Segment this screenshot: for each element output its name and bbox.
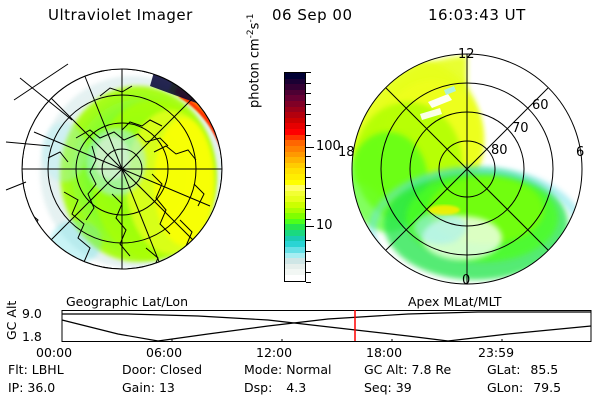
colorbar-ticks	[306, 72, 314, 282]
colorbar-minor-tick	[306, 93, 311, 94]
status-flt-label: Flt:	[8, 362, 28, 377]
apex-panel-title: Apex MLat/MLT	[408, 294, 502, 309]
timeseries-xtick-4: 23:59	[478, 345, 514, 360]
status-glon-value: 79.5	[533, 380, 561, 395]
colorbar-minor-tick	[306, 240, 311, 241]
status-flt: Flt: LBHL	[8, 362, 64, 377]
colorbar-unit-exp2: -1	[246, 14, 256, 23]
status-dsp-value: 4.3	[286, 380, 306, 395]
header-bar: Ultraviolet Imager 06 Sep 00 16:03:43 UT	[0, 6, 600, 32]
polar-svg	[336, 42, 598, 297]
status-ip-label: IP:	[8, 380, 23, 395]
colorbar-major-tick	[306, 147, 314, 148]
status-glat: GLat: 85.5	[487, 362, 558, 377]
globe-svg	[4, 42, 254, 297]
colorbar-minor-tick	[306, 72, 311, 73]
colorbar-minor-tick	[306, 261, 311, 262]
status-dsp: Dsp: 4.3	[244, 380, 306, 395]
colorbar	[284, 72, 306, 282]
status-door-label: Door:	[122, 362, 156, 377]
colorbar-major-tick	[306, 226, 314, 227]
colorbar-minor-tick	[306, 125, 311, 126]
colorbar-unit-main: photon cm	[247, 38, 262, 108]
mlt-label-6: 6	[576, 146, 584, 159]
status-gcalt: GC Alt: 7.8 Re	[364, 362, 451, 377]
timeseries-xtick-0: 00:00	[36, 345, 72, 360]
geographic-panel-title: Geographic Lat/Lon	[66, 294, 188, 309]
colorbar-minor-tick	[306, 272, 311, 273]
colorbar-minor-tick	[306, 156, 311, 157]
timeseries-frame	[62, 311, 591, 342]
status-ip-value: 36.0	[27, 380, 55, 395]
instrument-title: Ultraviolet Imager	[48, 6, 193, 24]
status-gcalt-label: GC Alt:	[364, 362, 408, 377]
status-flt-value: LBHL	[32, 362, 64, 377]
status-door: Door: Closed	[122, 362, 202, 377]
timeseries-svg	[8, 310, 592, 342]
geographic-globe-image	[4, 42, 254, 297]
globe-emission-layer	[22, 69, 234, 296]
timeseries-xtick-2: 12:00	[256, 345, 292, 360]
mlat-label-70: 70	[512, 122, 529, 135]
groundtrack-timeseries	[8, 310, 592, 342]
status-gain-value: 13	[159, 380, 175, 395]
mlat-label-60: 60	[532, 99, 549, 112]
timeseries-ytick-top: 9.0	[22, 306, 42, 321]
colorbar-minor-tick	[306, 83, 311, 84]
colorbar-minor-tick	[306, 219, 311, 220]
timeseries-xtick-1: 06:00	[146, 345, 182, 360]
colorbar-minor-tick	[306, 251, 311, 252]
status-seq-value: 39	[396, 380, 412, 395]
status-glon: GLon: 79.5	[487, 380, 561, 395]
colorbar-gradient	[284, 72, 306, 282]
apex-track-curve	[62, 314, 591, 341]
colorbar-minor-tick	[306, 198, 311, 199]
colorbar-minor-tick	[306, 209, 311, 210]
colorbar-tick-label-100: 100	[316, 140, 341, 153]
colorbar-unit-exp1: -2	[246, 29, 256, 38]
status-mode-label: Mode:	[244, 362, 282, 377]
status-door-value: Closed	[160, 362, 202, 377]
status-mode-value: Normal	[286, 362, 331, 377]
mlat-label-80: 80	[491, 144, 508, 157]
status-ip: IP: 36.0	[8, 380, 55, 395]
status-seq-label: Seq:	[364, 380, 392, 395]
status-dsp-label: Dsp:	[244, 380, 272, 395]
status-gain: Gain: 13	[122, 380, 175, 395]
status-seq: Seq: 39	[364, 380, 412, 395]
colorbar-tick-label-10: 10	[316, 219, 333, 232]
mlt-label-0: 0	[462, 274, 470, 287]
status-glon-label: GLon:	[487, 380, 523, 395]
timeseries-ylabel: GC Alt	[4, 301, 19, 340]
status-glat-label: GLat:	[487, 362, 520, 377]
colorbar-segment	[285, 275, 305, 281]
status-mode: Mode: Normal	[244, 362, 332, 377]
timeseries-xtick-3: 18:00	[366, 345, 402, 360]
colorbar-axis-label: photon cm-2s-1	[246, 0, 262, 108]
observation-date: 06 Sep 00	[272, 6, 352, 24]
colorbar-minor-tick	[306, 282, 311, 283]
colorbar-minor-tick	[306, 135, 311, 136]
timeseries-ytick-bottom: 1.8	[22, 329, 42, 344]
colorbar-minor-tick	[306, 188, 311, 189]
status-gain-label: Gain:	[122, 380, 155, 395]
colorbar-minor-tick	[306, 167, 311, 168]
apex-polar-plot: 12 18 6 0 60 70 80	[336, 42, 598, 297]
status-footer: Flt: LBHL IP: 36.0 Door: Closed Gain: 13…	[0, 362, 600, 400]
status-glat-value: 85.5	[530, 362, 558, 377]
status-gcalt-value: 7.8 Re	[412, 362, 452, 377]
mlt-label-12: 12	[458, 48, 475, 61]
colorbar-minor-tick	[306, 177, 311, 178]
colorbar-unit-mid: s	[247, 23, 262, 30]
observation-time: 16:03:43 UT	[428, 6, 526, 24]
colorbar-minor-tick	[306, 114, 311, 115]
colorbar-minor-tick	[306, 104, 311, 105]
